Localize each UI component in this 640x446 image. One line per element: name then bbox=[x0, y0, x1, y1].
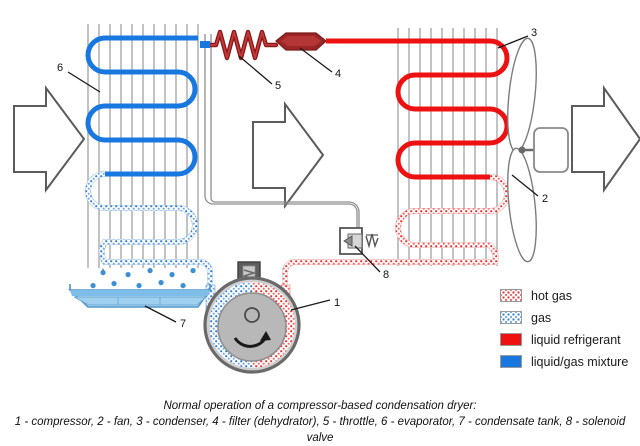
callout-8: 8 bbox=[383, 269, 389, 281]
callout-6: 6 bbox=[57, 62, 63, 74]
compressor-rotor bbox=[218, 293, 286, 361]
legend-item-liquid-gas-mixture: liquid/gas mixture bbox=[500, 352, 640, 371]
evaporator-fins bbox=[88, 24, 198, 268]
legend-label-liquid-refrigerant: liquid refrigerant bbox=[531, 333, 621, 347]
liquid-line-to-condenser bbox=[326, 41, 507, 177]
callout-3: 3 bbox=[531, 27, 537, 39]
throttle bbox=[209, 32, 276, 58]
legend-item-liquid-refrigerant: liquid refrigerant bbox=[500, 330, 640, 349]
fan bbox=[503, 37, 568, 263]
legend-label-gas: gas bbox=[531, 311, 551, 325]
condenser-fins bbox=[398, 28, 497, 266]
legend-swatch-liquid-gas-mixture bbox=[500, 355, 522, 368]
caption-line-2: 1 - compressor, 2 - fan, 3 - condenser, … bbox=[0, 414, 640, 446]
middle-airflow-arrow bbox=[253, 104, 323, 206]
condensate-droplets bbox=[90, 268, 195, 288]
callout-7: 7 bbox=[180, 318, 186, 330]
caption-line-1: Normal operation of a compressor-based c… bbox=[0, 398, 640, 414]
compressor-shaft bbox=[245, 308, 259, 322]
legend-swatch-hot-gas bbox=[500, 289, 522, 302]
callout-4: 4 bbox=[335, 68, 341, 80]
throttle-inlet-stub bbox=[200, 41, 210, 48]
outlet-airflow-arrow bbox=[572, 88, 640, 190]
legend-label-liquid-gas-mixture: liquid/gas mixture bbox=[531, 355, 628, 369]
diagram-canvas: 1 2 3 4 5 6 7 8 hot gas gas liquid refri… bbox=[0, 0, 640, 444]
caption: Normal operation of a compressor-based c… bbox=[0, 398, 640, 446]
legend-item-gas: gas bbox=[500, 308, 640, 327]
inlet-airflow-arrow bbox=[14, 88, 84, 190]
filter-dehydrator bbox=[276, 33, 326, 50]
legend-label-hot-gas: hot gas bbox=[531, 289, 572, 303]
evaporator-coil-gas bbox=[88, 174, 200, 262]
fan-motor bbox=[534, 128, 568, 172]
callout-1: 1 bbox=[334, 297, 340, 309]
legend: hot gas gas liquid refrigerant liquid/ga… bbox=[500, 286, 640, 374]
callout-2: 2 bbox=[542, 193, 548, 205]
legend-item-hot-gas: hot gas bbox=[500, 286, 640, 305]
discharge-line bbox=[285, 262, 380, 290]
legend-swatch-liquid-refrigerant bbox=[500, 333, 522, 346]
legend-swatch-gas bbox=[500, 311, 522, 324]
callout-5: 5 bbox=[275, 80, 281, 92]
condenser-coil-hotgas-dots bbox=[380, 177, 507, 262]
